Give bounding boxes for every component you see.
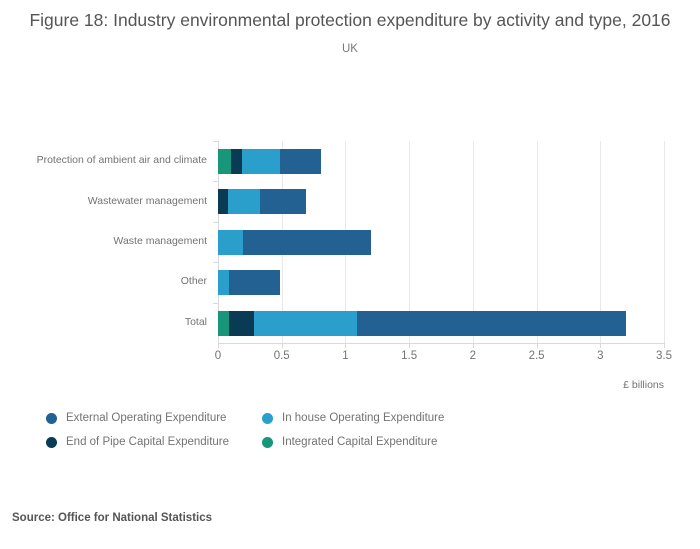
y-axis-tick	[213, 181, 218, 182]
legend-swatch-icon	[46, 413, 57, 424]
x-axis-tick	[664, 343, 665, 348]
legend-item-label: Integrated Capital Expenditure	[282, 436, 437, 448]
y-axis-tick-label: Protection of ambient air and climate	[0, 154, 207, 166]
bar-row	[218, 222, 664, 262]
x-axis-title: £ billions	[0, 379, 664, 391]
legend-item-integrated-capital-expenditure[interactable]: Integrated Capital Expenditure	[262, 430, 437, 454]
bar-segment[interactable]	[218, 311, 229, 336]
bar-row	[218, 181, 664, 221]
y-axis-tick	[213, 222, 218, 223]
y-axis-tick-label: Other	[0, 275, 207, 287]
legend-item-in-house-operating-expenditure[interactable]: In house Operating Expenditure	[262, 406, 444, 430]
x-axis-tick	[473, 343, 474, 348]
x-axis-tick	[600, 343, 601, 348]
bar-segment[interactable]	[242, 149, 280, 174]
bar-segment[interactable]	[231, 149, 242, 174]
x-axis-tick-label: 2	[470, 350, 476, 362]
stacked-bar[interactable]	[218, 311, 626, 336]
y-axis-tick	[213, 141, 218, 142]
legend-row: External Operating Expenditure In house …	[46, 406, 566, 430]
legend-swatch-icon	[46, 437, 57, 448]
y-axis-tick-label: Wastewater management	[0, 195, 207, 207]
x-axis-tick-label: 3.5	[656, 350, 672, 362]
legend-row: End of Pipe Capital Expenditure Integrat…	[46, 430, 566, 454]
bar-segment[interactable]	[243, 230, 370, 255]
gridline	[664, 141, 665, 343]
bar-segment[interactable]	[229, 270, 280, 295]
x-axis-tick-label: 3	[597, 350, 603, 362]
x-axis-tick	[537, 343, 538, 348]
chart-subtitle: UK	[0, 43, 700, 55]
page-title: Figure 18: Industry environmental protec…	[0, 8, 700, 32]
stacked-bar[interactable]	[218, 230, 371, 255]
x-axis-tick-label: 0.5	[274, 350, 290, 362]
legend-item-label: In house Operating Expenditure	[282, 412, 444, 424]
bar-segment[interactable]	[218, 270, 229, 295]
legend-item-label: End of Pipe Capital Expenditure	[66, 436, 229, 448]
bar-segment[interactable]	[280, 149, 321, 174]
x-axis-tick	[345, 343, 346, 348]
bar-row	[218, 262, 664, 302]
bar-segment[interactable]	[229, 311, 253, 336]
x-axis-tick	[218, 343, 219, 348]
x-axis-tick-label: 0	[215, 350, 221, 362]
stacked-bar[interactable]	[218, 270, 280, 295]
legend-item-end-of-pipe-capital-expenditure[interactable]: End of Pipe Capital Expenditure	[46, 430, 229, 454]
bar-segment[interactable]	[218, 189, 228, 214]
x-axis-tick-label: 1.5	[401, 350, 417, 362]
legend-swatch-icon	[262, 437, 273, 448]
bar-row	[218, 303, 664, 343]
y-axis-tick-label: Total	[0, 316, 207, 328]
x-axis-tick	[282, 343, 283, 348]
source-note: Source: Office for National Statistics	[12, 512, 212, 524]
bar-segment[interactable]	[218, 149, 231, 174]
x-axis-tick-label: 2.5	[529, 350, 545, 362]
bar-row	[218, 141, 664, 181]
x-axis-line	[218, 343, 664, 344]
bar-segment[interactable]	[254, 311, 357, 336]
y-axis-tick	[213, 262, 218, 263]
chart-legend: External Operating Expenditure In house …	[46, 406, 566, 454]
stacked-bar[interactable]	[218, 149, 321, 174]
plot-area: 00.511.522.533.5	[218, 141, 664, 343]
y-axis-tick	[213, 303, 218, 304]
title-block: Figure 18: Industry environmental protec…	[0, 8, 700, 55]
legend-item-external-operating-expenditure[interactable]: External Operating Expenditure	[46, 406, 226, 430]
bar-segment[interactable]	[357, 311, 626, 336]
stacked-bar[interactable]	[218, 189, 306, 214]
y-axis-tick-label: Waste management	[0, 235, 207, 247]
x-axis-tick	[409, 343, 410, 348]
legend-swatch-icon	[262, 413, 273, 424]
bar-segment[interactable]	[228, 189, 260, 214]
bar-segment[interactable]	[260, 189, 306, 214]
legend-item-label: External Operating Expenditure	[66, 412, 226, 424]
x-axis-tick-label: 1	[342, 350, 348, 362]
bar-segment[interactable]	[218, 230, 243, 255]
